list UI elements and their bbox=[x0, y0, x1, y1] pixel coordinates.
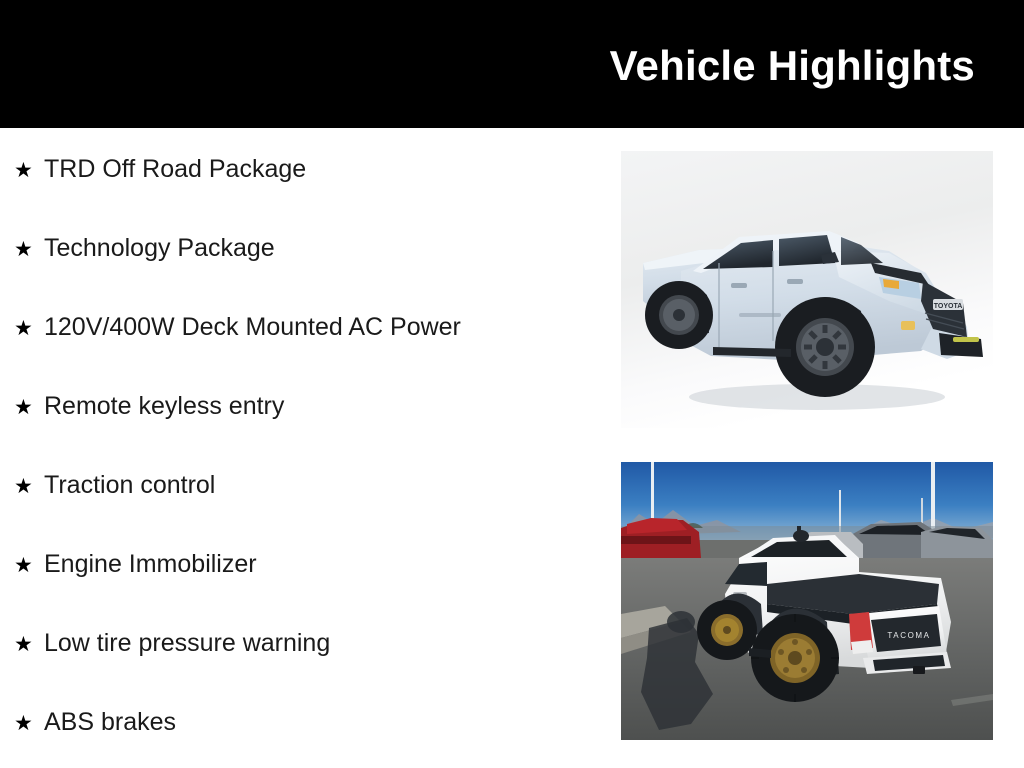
list-item-label: Engine Immobilizer bbox=[44, 549, 257, 579]
highlights-list: ★ TRD Off Road Package ★ Technology Pack… bbox=[0, 128, 600, 768]
list-item-label: ABS brakes bbox=[44, 707, 176, 737]
list-item-label: Technology Package bbox=[44, 233, 275, 263]
star-icon: ★ bbox=[14, 157, 44, 185]
list-item: ★ TRD Off Road Package bbox=[0, 154, 600, 233]
header-bar: Vehicle Highlights bbox=[0, 0, 1024, 128]
list-item-label: TRD Off Road Package bbox=[44, 154, 306, 184]
star-icon: ★ bbox=[14, 394, 44, 422]
list-item-label: 120V/400W Deck Mounted AC Power bbox=[44, 312, 461, 342]
list-item: ★ Technology Package bbox=[0, 233, 600, 312]
svg-text:TOYOTA: TOYOTA bbox=[934, 303, 963, 310]
star-icon: ★ bbox=[14, 236, 44, 264]
star-icon: ★ bbox=[14, 552, 44, 580]
list-item: ★ Traction control bbox=[0, 470, 600, 549]
list-item: ★ Low tire pressure warning bbox=[0, 628, 600, 707]
page-title: Vehicle Highlights bbox=[610, 42, 975, 90]
star-icon: ★ bbox=[14, 631, 44, 659]
list-item: ★ Engine Immobilizer bbox=[0, 549, 600, 628]
list-item: ★ Remote keyless entry bbox=[0, 391, 600, 470]
star-icon: ★ bbox=[14, 315, 44, 343]
list-item-label: Low tire pressure warning bbox=[44, 628, 330, 658]
svg-text:TACOMA: TACOMA bbox=[887, 631, 930, 640]
list-item-label: Traction control bbox=[44, 470, 215, 500]
star-icon: ★ bbox=[14, 473, 44, 501]
list-item: ★ 120V/400W Deck Mounted AC Power bbox=[0, 312, 600, 391]
list-item-label: Remote keyless entry bbox=[44, 391, 284, 421]
vehicle-photo-front-studio[interactable]: TOYOTA bbox=[621, 151, 993, 428]
star-icon: ★ bbox=[14, 710, 44, 738]
vehicle-photo-rear-lot[interactable]: TACOMA bbox=[621, 462, 993, 740]
vehicle-highlights-slide: Vehicle Highlights ★ TRD Off Road Packag… bbox=[0, 0, 1024, 768]
list-item: ★ ABS brakes bbox=[0, 707, 600, 768]
